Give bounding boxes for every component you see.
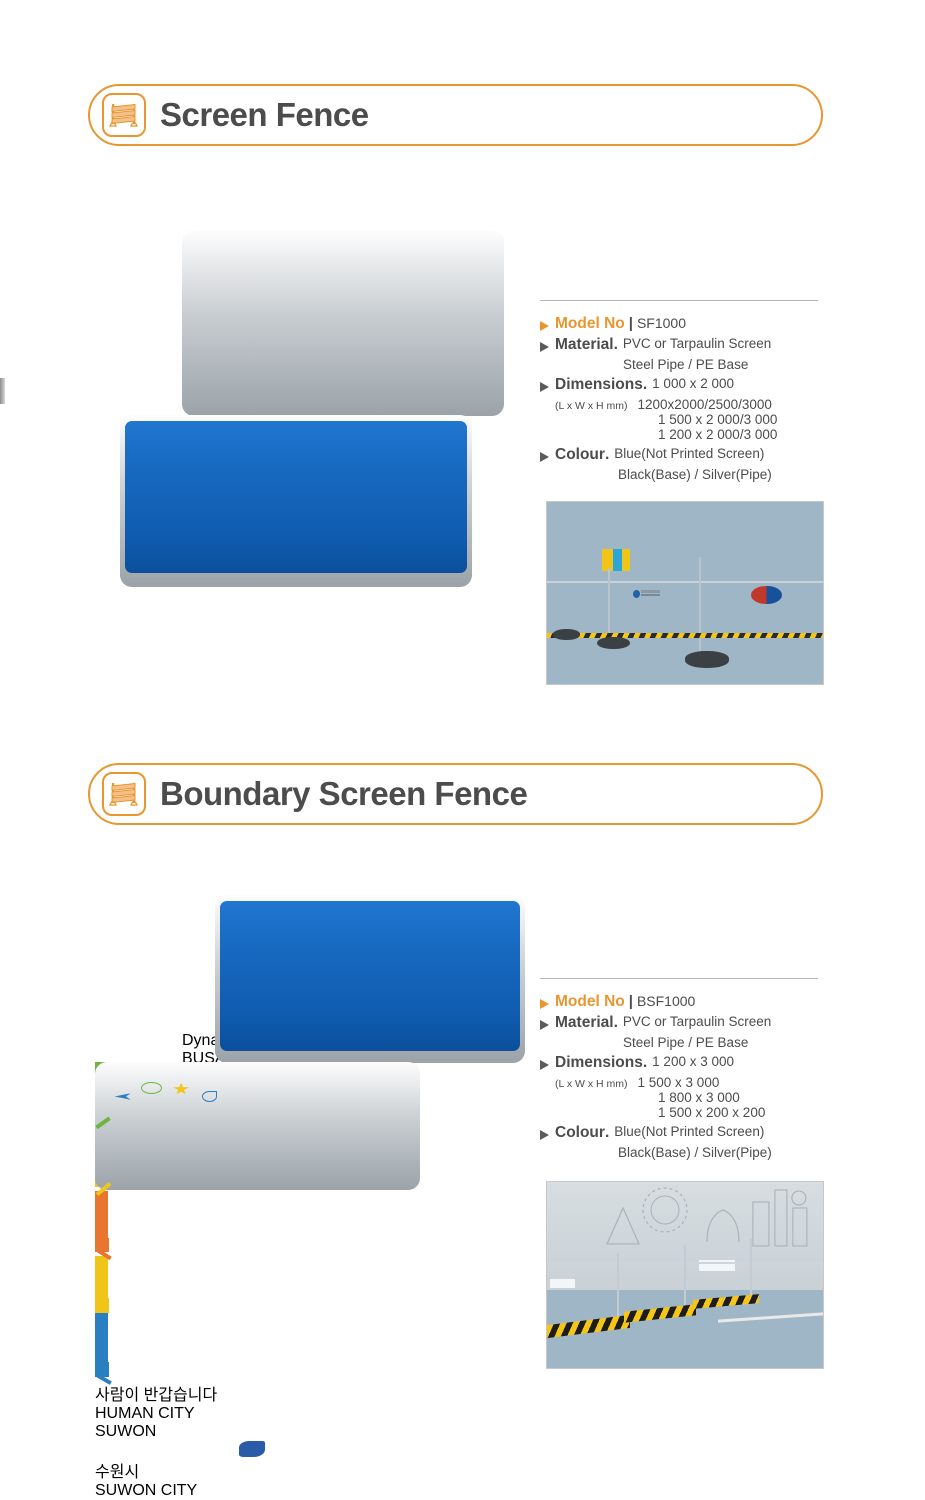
material-line-2: Steel Pipe / PE Base: [623, 1035, 840, 1050]
colour-dot: .: [605, 1124, 609, 1142]
dimensions-line-3: 1 500 x 2 000/3 000: [658, 412, 840, 427]
page-edge-tick: [0, 378, 5, 404]
suwon-subwordmark: SUWON: [95, 1423, 408, 1441]
product-boundary-fence-blue: 안 전 제 일: [215, 895, 525, 1065]
dimensions-line-1: 1 000 x 2 000: [652, 376, 734, 391]
dimensions-dot: .: [643, 376, 647, 394]
model-label: Model No: [555, 315, 625, 333]
material-line-1: PVC or Tarpaulin Screen: [623, 336, 771, 351]
dimensions-sublabel: (L x W x H mm): [555, 1078, 628, 1090]
dimensions-line-1: 1 200 x 3 000: [652, 1054, 734, 1069]
dimensions-line-2: 1200x2000/2500/3000: [638, 397, 772, 412]
product-screen-fence-blue: 안 전 제 일: [120, 415, 472, 590]
spec-row-colour: Colour . Blue(Not Printed Screen): [540, 446, 840, 464]
spec-block-screen-fence: Model No | SF1000 Material . PVC or Tarp…: [540, 300, 840, 482]
section-header-boundary-screen-fence: Boundary Screen Fence: [88, 763, 823, 825]
section-title: Boundary Screen Fence: [160, 775, 527, 813]
section-title: Screen Fence: [160, 96, 369, 134]
fence-icon: [102, 772, 146, 816]
material-label: Material: [555, 1014, 614, 1032]
dimensions-line-2: 1 500 x 3 000: [638, 1075, 720, 1090]
colour-line-1: Blue(Not Printed Screen): [614, 1124, 764, 1139]
dimensions-sublabel: (L x W x H mm): [555, 400, 628, 412]
colour-line-2: Black(Base) / Silver(Pipe): [618, 1145, 840, 1160]
model-value: SF1000: [637, 315, 686, 331]
spec-divider: [540, 978, 818, 979]
fence-icon: [102, 93, 146, 137]
bullet-triangle-icon: [540, 321, 549, 331]
bullet-triangle-icon: [540, 382, 549, 392]
installation-photo-screen-fence: [546, 501, 824, 685]
colour-line-1: Blue(Not Printed Screen): [614, 446, 764, 461]
installation-photo-boundary-fence: [546, 1181, 824, 1369]
model-value: BSF1000: [637, 993, 695, 1009]
bullet-triangle-icon: [540, 999, 549, 1009]
dimensions-dot: .: [643, 1054, 647, 1072]
dimensions-label: Dimensions: [555, 1054, 643, 1072]
bullet-triangle-icon: [540, 1060, 549, 1070]
colour-dot: .: [605, 446, 609, 464]
colour-label: Colour: [555, 446, 605, 464]
dimensions-line-4: 1 500 x 200 x 200: [658, 1105, 840, 1120]
spec-row-dimensions: Dimensions . 1 000 x 2 000: [540, 376, 840, 394]
product-boundary-fence-printed: 사람이 반갑습니다 HUMAN CITY SUWON 수원시 SUWON CIT…: [95, 1062, 420, 1192]
suwon-wordmark: HUMAN CITY: [95, 1405, 408, 1423]
suwon-city-logo: 수원시 SUWON CITY: [95, 1441, 408, 1500]
colour-line-2: Black(Base) / Silver(Pipe): [618, 467, 840, 482]
section-header-screen-fence: Screen Fence: [88, 84, 823, 146]
bullet-triangle-icon: [540, 1020, 549, 1030]
bullet-triangle-icon: [540, 452, 549, 462]
spec-row-model: Model No | BSF1000: [540, 993, 840, 1011]
spec-row-material: Material . PVC or Tarpaulin Screen: [540, 1014, 840, 1032]
material-label: Material: [555, 336, 614, 354]
model-label: Model No: [555, 993, 625, 1011]
spec-row-colour: Colour . Blue(Not Printed Screen): [540, 1124, 840, 1142]
material-line-1: PVC or Tarpaulin Screen: [623, 1014, 771, 1029]
material-dot: .: [614, 336, 618, 354]
spec-row-model: Model No | SF1000: [540, 315, 840, 333]
boundary-base-front: [0, 166, 322, 192]
product-screen-fence-printed: Dynamic BUSAN 부산광역시 BUSAN METROPOLITAN C…: [182, 228, 504, 418]
dimensions-line-3: 1 800 x 3 000: [658, 1090, 840, 1105]
bullet-triangle-icon: [540, 342, 549, 352]
suwon-city-logo-subtext: SUWON CITY: [95, 1482, 408, 1500]
spec-row-dimensions: Dimensions . 1 200 x 3 000: [540, 1054, 840, 1072]
rubber-base-rear: [0, 100, 78, 144]
spec-row-material: Material . PVC or Tarpaulin Screen: [540, 336, 840, 354]
boundary-base-rear: [0, 144, 290, 166]
bullet-triangle-icon: [540, 1130, 549, 1140]
spec-block-boundary-screen-fence: Model No | BSF1000 Material . PVC or Tar…: [540, 978, 840, 1160]
suwon-tagline: 사람이 반갑습니다: [95, 1381, 408, 1405]
dimensions-label: Dimensions: [555, 376, 643, 394]
catalog-page: Screen Fence: [0, 0, 925, 1465]
suwon-city-logo-text: 수원시: [95, 1458, 408, 1482]
material-dot: .: [614, 1014, 618, 1032]
rubber-base-left: [0, 0, 90, 50]
model-separator: |: [629, 315, 633, 332]
rubber-base-right: [0, 50, 90, 100]
model-separator: |: [629, 993, 633, 1010]
spec-divider: [540, 300, 818, 301]
colour-label: Colour: [555, 1124, 605, 1142]
material-line-2: Steel Pipe / PE Base: [623, 357, 840, 372]
dimensions-line-4: 1 200 x 2 000/3 000: [658, 427, 840, 442]
